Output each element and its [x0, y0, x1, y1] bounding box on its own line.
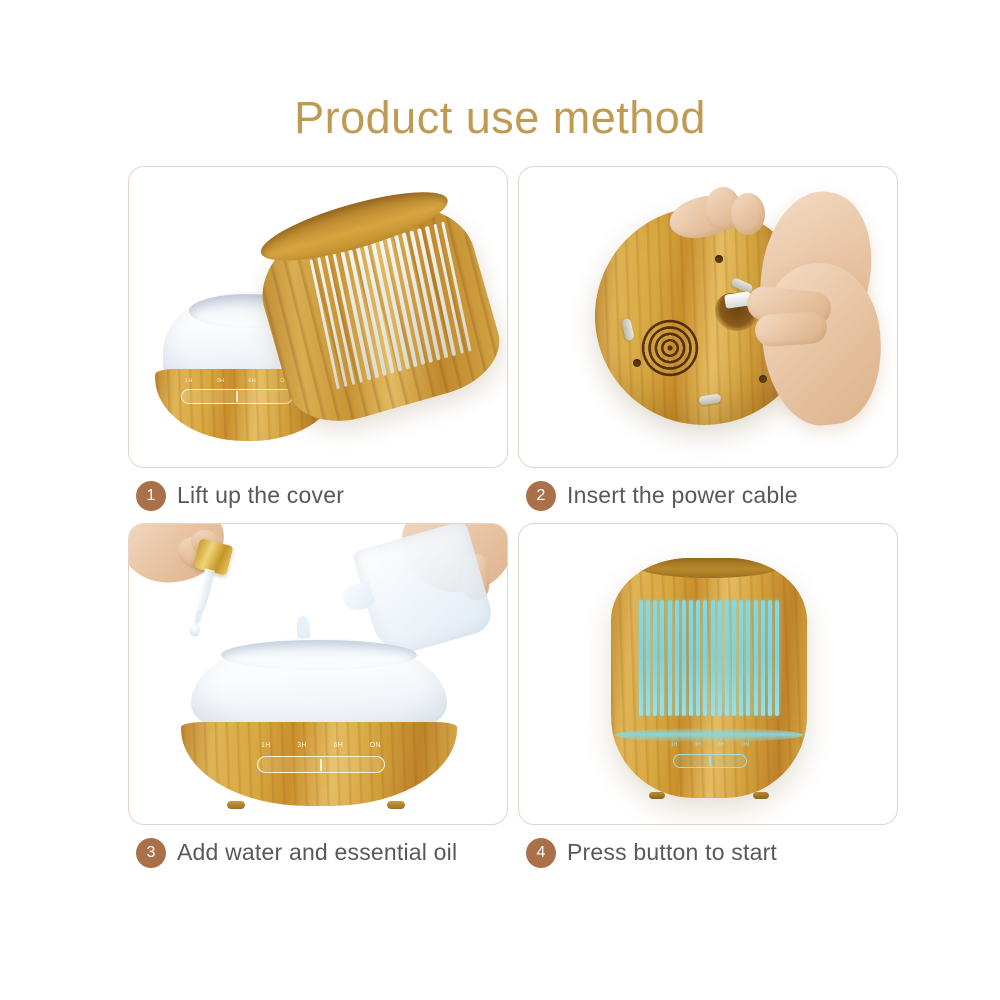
step-3-label: Add water and essential oil	[177, 839, 457, 866]
step-3-badge: 3	[136, 838, 166, 868]
product-instruction-page: Product use method 1H 3H 6H	[0, 0, 1000, 1000]
dropper-tip	[194, 610, 203, 625]
step-2-label: Insert the power cable	[567, 482, 798, 509]
step-4-label: Press button to start	[567, 839, 777, 866]
timer-label-3h: 3H	[217, 378, 225, 384]
step-2-badge: 2	[526, 481, 556, 511]
step-4-illustration: 1H 3H 6H ON	[519, 524, 897, 824]
diffuser-feet	[611, 792, 807, 800]
rubber-foot-3	[698, 394, 721, 406]
knuckle-2	[731, 193, 765, 235]
foot-left	[227, 801, 245, 809]
thumb-front	[754, 311, 828, 348]
timer-label-on: ON	[370, 742, 381, 749]
assembled-diffuser: 1H 3H 6H ON	[611, 558, 807, 798]
foot-right	[753, 792, 769, 799]
oil-droplet	[189, 623, 202, 638]
foot-left	[649, 792, 665, 799]
led-seam-glow	[615, 728, 803, 742]
timer-label-on: ON	[742, 742, 750, 748]
timer-label-6h: 6H	[248, 378, 256, 384]
step-1-badge: 1	[136, 481, 166, 511]
dropper-tube	[194, 568, 215, 615]
step-2-image-card	[518, 166, 898, 468]
timer-label-1h: 1H	[261, 742, 271, 749]
rubber-foot-2	[621, 318, 634, 341]
step-4-image-card: 1H 3H 6H ON	[518, 523, 898, 825]
steps-grid: 1H 3H 6H ON	[128, 166, 898, 878]
timer-label-1h: 1H	[185, 378, 193, 384]
timer-label-6h: 6H	[718, 742, 724, 748]
step-3-image-card: 1H 3H 6H ON	[128, 523, 508, 825]
fan-vent-icon	[641, 319, 699, 377]
step-1-caption: 1 Lift up the cover	[128, 468, 508, 523]
timer-labels-step1: 1H 3H 6H ON	[185, 378, 289, 384]
bowl-feet	[181, 801, 457, 809]
page-title: Product use method	[0, 92, 1000, 144]
timer-labels-step3: 1H 3H 6H ON	[261, 742, 381, 749]
step-card-4: 1H 3H 6H ON 4 Press	[518, 523, 898, 880]
step-1-illustration: 1H 3H 6H ON	[129, 167, 507, 467]
foot-right	[387, 801, 405, 809]
step-3-caption: 3 Add water and essential oil	[128, 825, 508, 880]
bowl-water-opening	[221, 640, 417, 670]
timer-label-6h: 6H	[333, 742, 343, 749]
control-button-bar-step1	[181, 389, 293, 404]
screw-2	[633, 359, 641, 367]
timer-label-3h: 3H	[297, 742, 307, 749]
bowl-wood-base: 1H 3H 6H ON	[181, 722, 457, 806]
step-1-image-card: 1H 3H 6H ON	[128, 166, 508, 468]
diffuser-open-bowl: 1H 3H 6H ON	[181, 638, 457, 806]
step-4-caption: 4 Press button to start	[518, 825, 898, 880]
control-button-bar-step3	[257, 756, 385, 773]
step-3-illustration: 1H 3H 6H ON	[129, 524, 507, 824]
diffuser-top-rim	[635, 558, 783, 578]
step-2-caption: 2 Insert the power cable	[518, 468, 898, 523]
step-card-2: 2 Insert the power cable	[518, 166, 898, 523]
screw-1	[715, 255, 723, 263]
step-4-badge: 4	[526, 838, 556, 868]
timer-label-1h: 1H	[671, 742, 677, 748]
step-card-1: 1H 3H 6H ON	[128, 166, 508, 523]
timer-label-3h: 3H	[695, 742, 701, 748]
step-card-3: 1H 3H 6H ON	[128, 523, 508, 880]
glowing-slats	[639, 600, 779, 716]
control-button-bar-step4	[673, 754, 747, 768]
screw-3	[759, 375, 767, 383]
step-2-illustration	[519, 167, 897, 467]
step-1-label: Lift up the cover	[177, 482, 344, 509]
water-pitcher	[343, 528, 483, 656]
timer-labels-step4: 1H 3H 6H ON	[671, 742, 749, 748]
